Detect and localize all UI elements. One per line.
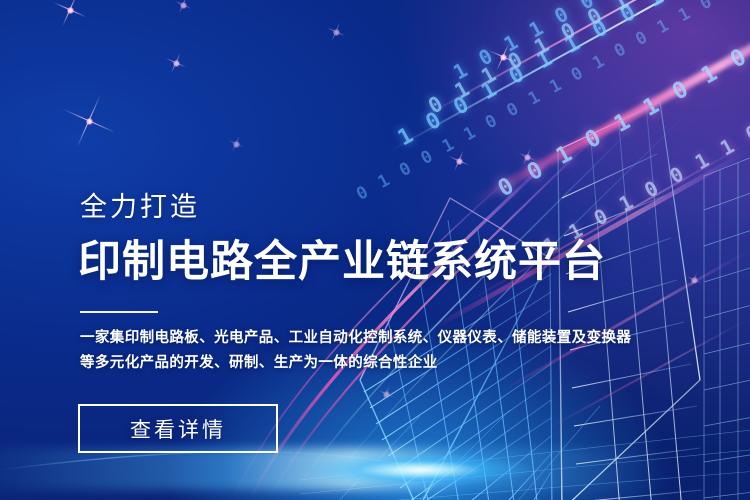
hero-description: 一家集印制电路板、光电产品、工业自动化控制系统、仪器仪表、储能装置及变换器 等多… [80,326,580,376]
hero-banner: 1 0 0 1 0 1 1 0 0 1 0 1 0 1 1 0 0 1 0 1 … [0,0,750,500]
hero-eyebrow: 全力打造 [80,194,200,221]
star-sparkle-icon [686,272,702,288]
hero-description-line-2: 等多元化产品的开发、研制、生产为一体的综合性企业 [80,351,580,376]
hero-description-line-1: 一家集印制电路板、光电产品、工业自动化控制系统、仪器仪表、储能装置及变换器 [80,326,580,351]
page-title: 印制电路全产业链系统平台 [78,238,606,286]
view-details-button[interactable]: 查看详情 [78,404,278,453]
hero-content: 全力打造 印制电路全产业链系统平台 一家集印制电路板、光电产品、工业自动化控制系… [80,0,640,500]
title-divider [80,311,158,313]
